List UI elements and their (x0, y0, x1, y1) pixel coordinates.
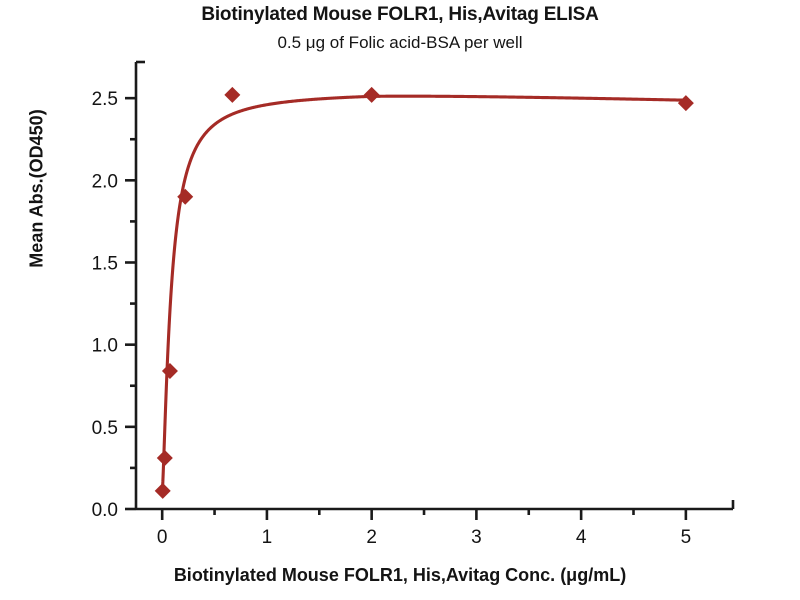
y-tick-labels: 0.00.51.01.52.02.5 (92, 89, 118, 521)
series-data-markers (155, 87, 694, 499)
x-tick-label: 4 (576, 527, 587, 548)
x-tick-label: 3 (471, 527, 482, 548)
y-tick-label: 0.5 (92, 418, 118, 439)
y-tick-label: 1.0 (92, 336, 118, 357)
data-point-marker (678, 95, 694, 111)
plot-area: 012345 0.00.51.01.52.02.5 (0, 0, 800, 600)
x-tick-label: 1 (262, 527, 273, 548)
y-tick-label: 2.5 (92, 89, 118, 110)
series-curve-line (163, 96, 686, 485)
elisa-chart-figure: Biotinylated Mouse FOLR1, His,Avitag ELI… (0, 0, 800, 600)
x-tick-label: 0 (157, 527, 168, 548)
x-tick-label: 5 (681, 527, 692, 548)
data-point-marker (162, 363, 178, 379)
x-tick-label: 2 (366, 527, 377, 548)
y-tick-label: 0.0 (92, 500, 118, 521)
data-point-marker (224, 87, 240, 103)
x-tick-labels: 012345 (157, 527, 691, 548)
data-point-marker (155, 483, 171, 499)
y-tick-label: 1.5 (92, 253, 118, 274)
axis-lines (136, 62, 733, 509)
y-tick-label: 2.0 (92, 171, 118, 192)
data-point-marker (157, 450, 173, 466)
data-point-marker (364, 87, 380, 103)
